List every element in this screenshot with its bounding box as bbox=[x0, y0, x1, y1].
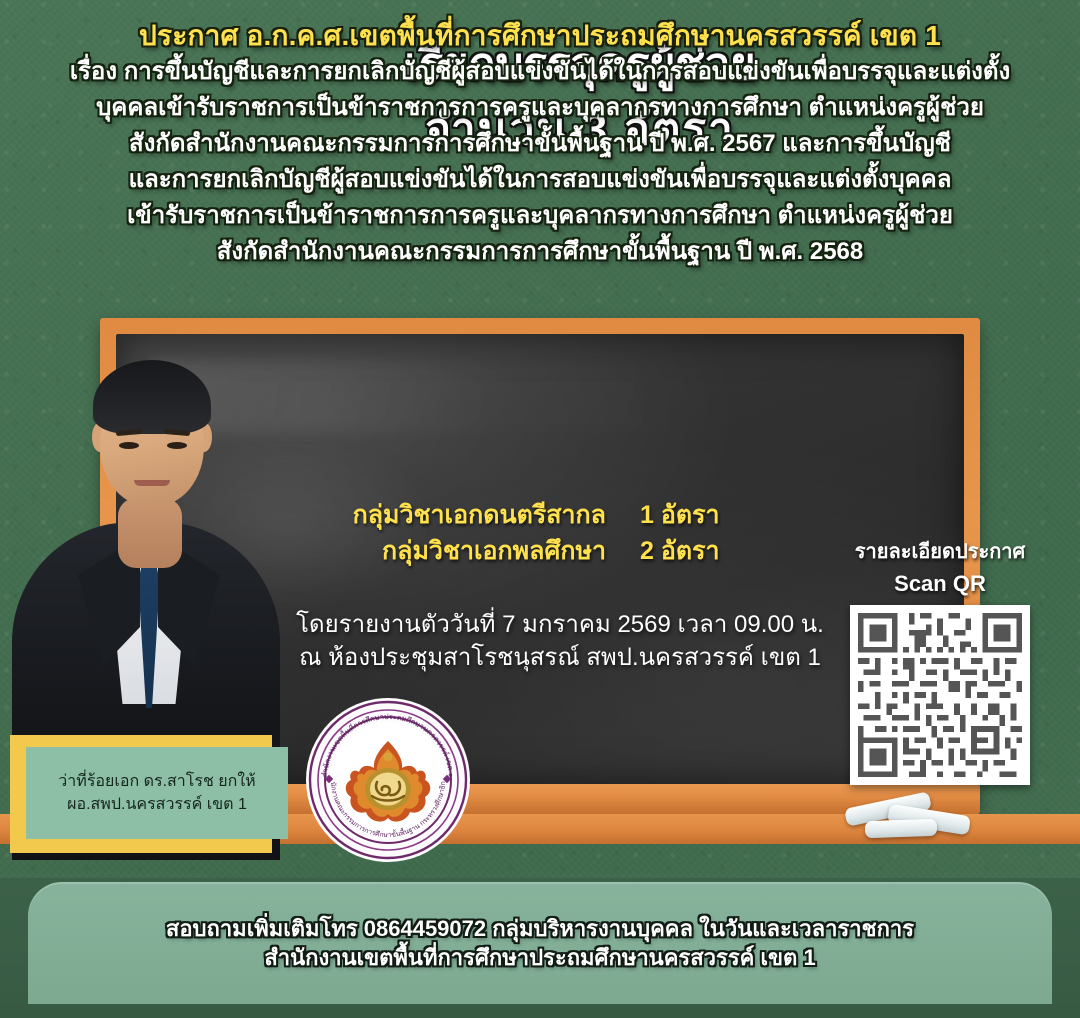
header-block: ประกาศ อ.ก.ค.ศ.เขตพื้นที่การศึกษาประถมศึ… bbox=[0, 0, 1080, 312]
header-line-2: บุคคลเข้ารับราชการเป็นข้าราชการการครูและ… bbox=[34, 96, 1046, 120]
header-line-6: สังกัดสำนักงานคณะกรรมการการศึกษาขั้นพื้น… bbox=[34, 240, 1046, 264]
qr-title: รายละเอียดประกาศ bbox=[838, 535, 1042, 567]
qr-subtitle: Scan QR bbox=[838, 571, 1042, 597]
portrait-neck bbox=[118, 498, 182, 568]
portrait-mouth bbox=[134, 480, 170, 486]
obec-seal-icon: สำนักงานเขตพื้นที่การศึกษาประถมศึกษานครส… bbox=[305, 697, 471, 863]
subject-name: กลุ่มวิชาเอกพลศึกษา bbox=[340, 533, 640, 569]
qr-panel: รายละเอียดประกาศ Scan QR bbox=[838, 535, 1042, 785]
header-line-4: และการยกเลิกบัญชีผู้สอบแข่งขันได้ในการสอ… bbox=[34, 168, 1046, 192]
subject-count: 2 อัตรา bbox=[640, 533, 780, 569]
reporting-venue-line: ณ ห้องประชุมสาโรชนุสรณ์ สพป.นครสวรรค์ เข… bbox=[250, 641, 870, 674]
reporting-details: โดยรายงานตัววันที่ 7 มกราคม 2569 เวลา 09… bbox=[250, 608, 870, 674]
subject-count: 1 อัตรา bbox=[640, 497, 780, 533]
subject-row: กลุ่มวิชาเอกดนตรีสากล 1 อัตรา bbox=[300, 497, 820, 533]
footer-line-2: สำนักงานเขตพื้นที่การศึกษาประถมศึกษานครส… bbox=[264, 943, 815, 972]
subject-row: กลุ่มวิชาเอกพลศึกษา 2 อัตรา bbox=[300, 533, 820, 569]
chalk-stick-icon bbox=[865, 819, 938, 839]
subject-list: กลุ่มวิชาเอกดนตรีสากล 1 อัตรา กลุ่มวิชาเ… bbox=[300, 497, 820, 570]
subject-name: กลุ่มวิชาเอกดนตรีสากล bbox=[340, 497, 640, 533]
nameplate: ว่าที่ร้อยเอก ดร.สาโรช ยกให้ ผอ.สพป.นครส… bbox=[0, 735, 280, 860]
footer-contact-panel: สอบถามเพิ่มเติมโทร 0864459072 กลุ่มบริหา… bbox=[28, 882, 1052, 1004]
header-line-3: สังกัดสำนักงานคณะกรรมการการศึกษาขั้นพื้น… bbox=[34, 132, 1046, 156]
portrait-eye-right bbox=[167, 442, 187, 449]
nameplate-line-1: ว่าที่ร้อยเอก ดร.สาโรช ยกให้ bbox=[58, 770, 255, 793]
nameplate-line-2: ผอ.สพป.นครสวรรค์ เขต 1 bbox=[67, 793, 247, 816]
header-line-5: เข้ารับราชการเป็นข้าราชการการครูและบุคลา… bbox=[34, 204, 1046, 228]
nameplate-body: ว่าที่ร้อยเอก ดร.สาโรช ยกให้ ผอ.สพป.นครส… bbox=[26, 747, 288, 839]
reporting-date-line: โดยรายงานตัววันที่ 7 มกราคม 2569 เวลา 09… bbox=[250, 608, 870, 641]
announcement-poster: ประกาศ อ.ก.ค.ศ.เขตพื้นที่การศึกษาประถมศึ… bbox=[0, 0, 1080, 1018]
footer-line-1: สอบถามเพิ่มเติมโทร 0864459072 กลุ่มบริหา… bbox=[166, 914, 914, 943]
qr-code-icon[interactable] bbox=[850, 605, 1030, 785]
page-title: ประกาศ อ.ก.ค.ศ.เขตพื้นที่การศึกษาประถมศึ… bbox=[34, 18, 1046, 53]
portrait-eye-left bbox=[119, 442, 139, 449]
header-line-1: เรื่อง การขึ้นบัญชีและการยกเลิกบัญชีผู้ส… bbox=[34, 60, 1046, 84]
portrait-hair bbox=[93, 360, 211, 434]
